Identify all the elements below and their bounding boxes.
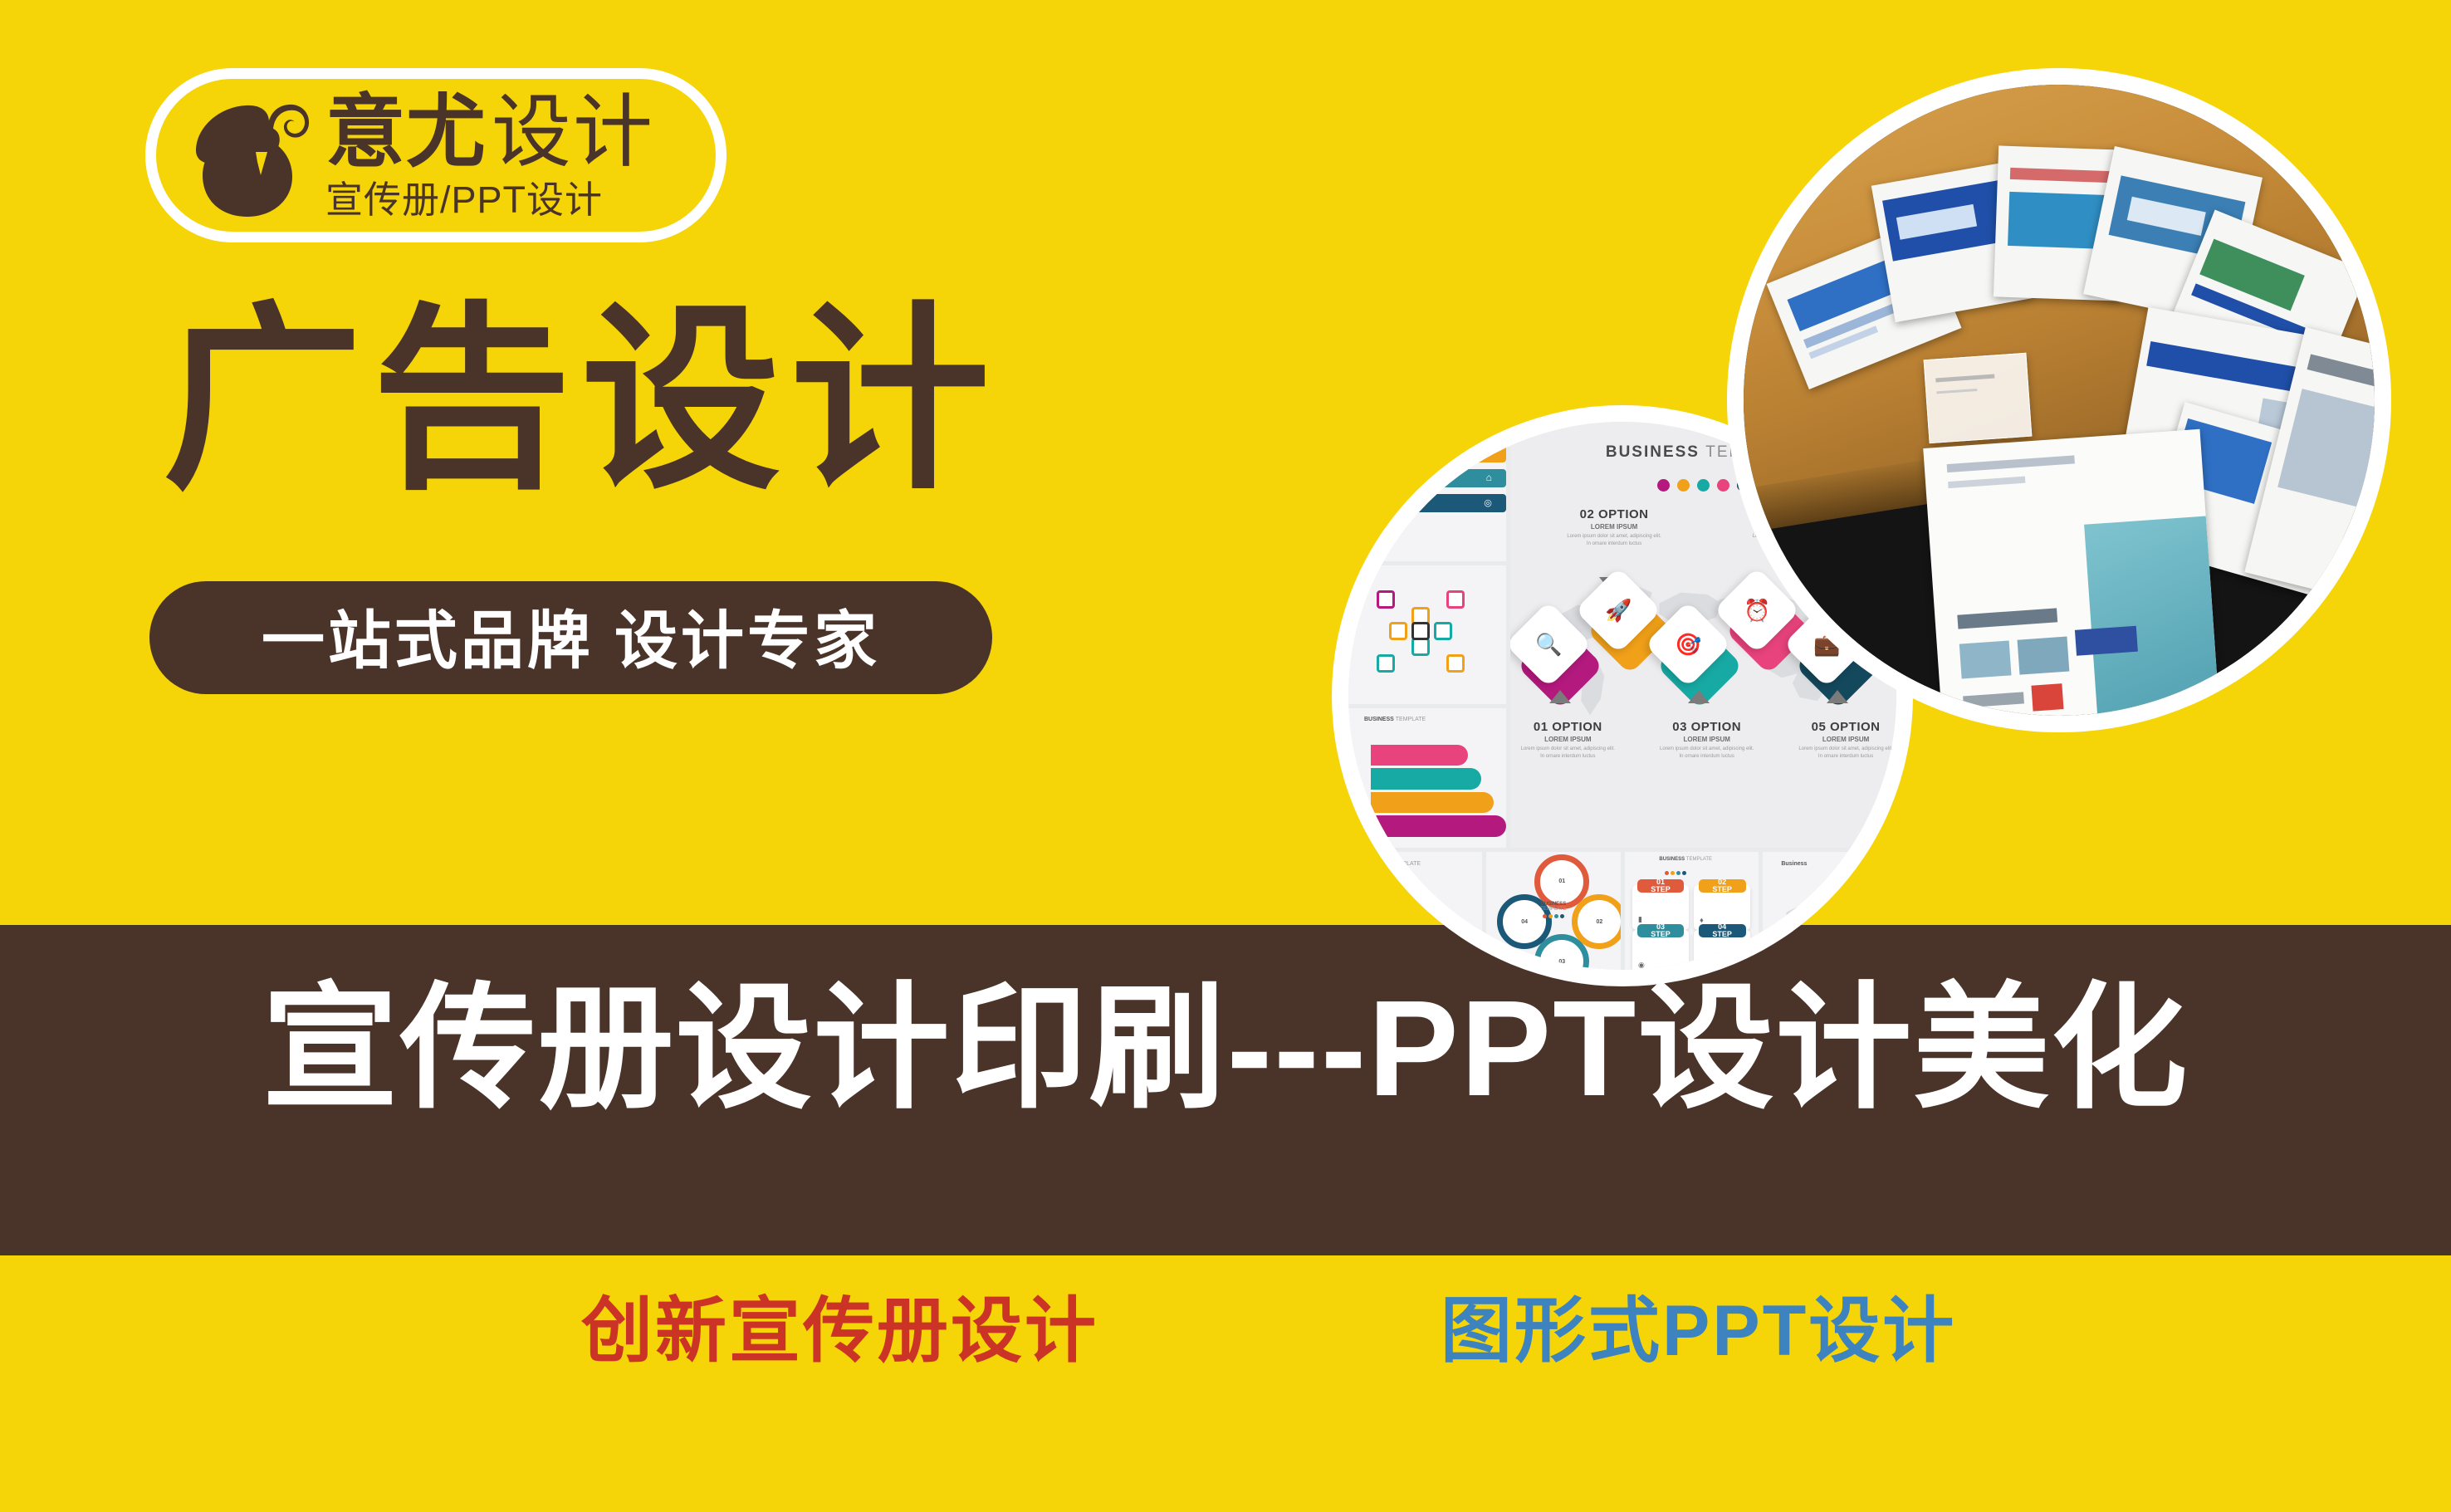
option-02-sub: LOREM IPSUM	[1564, 523, 1664, 531]
pointer-up-03	[1688, 690, 1710, 703]
b4-title: Business	[1781, 861, 1807, 867]
option-05-title: 05 OPTION	[1796, 720, 1896, 734]
option-label-01: 01 OPTION LOREM IPSUM Lorem ipsum dolor …	[1518, 720, 1617, 761]
bottom-label-ppt: 图形式PPT设计	[1441, 1295, 1956, 1367]
option-03-sub: LOREM IPSUM	[1657, 736, 1757, 743]
option-05-sub: LOREM IPSUM	[1796, 736, 1896, 743]
collage-bottom-row: BUSINESS TEMPLATE 04 OPTION	[1348, 852, 1896, 970]
option-02-body: Lorem ipsum dolor sit amet, adipiscing e…	[1564, 533, 1664, 548]
logo-badge: 意尤 设计 宣传册/PPT设计	[145, 68, 726, 242]
b1-title-light: TEMPLATE	[1391, 861, 1421, 867]
mini-slide-right-partial: Business 06	[1763, 852, 1896, 970]
printed-brochures-photo	[1727, 68, 2391, 732]
brochure-photo-inner	[1744, 85, 2375, 716]
option-02-title: 02 OPTION	[1564, 507, 1664, 521]
step-tile-04: 04 STEP	[1694, 930, 1750, 970]
subtitle-text: 一站式品牌 设计专家	[262, 590, 880, 681]
b1-title-bold: BUSINESS	[1359, 861, 1389, 867]
cone-title-light: TEMPLATE	[1396, 717, 1426, 722]
dot-4	[1717, 479, 1729, 492]
b3-title-light: TEMPLATE	[1686, 857, 1712, 862]
subtitle-pill: 一站式品牌 设计专家	[149, 581, 992, 694]
band-headline: 宣传册设计印刷---PPT设计美化	[0, 963, 2451, 1133]
bottom-label-brochure: 创新宣传册设计	[581, 1295, 1098, 1367]
page-headline: 广告设计	[163, 301, 1000, 500]
option-label-02: 02 OPTION LOREM IPSUM Lorem ipsum dolor …	[1564, 507, 1664, 548]
option-01-body: Lorem ipsum dolor sit amet, adipiscing e…	[1518, 746, 1617, 761]
option-02-icon: 🚀	[1605, 599, 1632, 621]
mini-slide-steps: BUSINESS TEMPLATE 01 STEP	[1625, 852, 1759, 970]
b1-option-label: 04 OPTION	[1388, 899, 1423, 907]
logo-text-block: 意尤 设计 宣传册/PPT设计	[325, 93, 654, 218]
option-03-body: Lorem ipsum dolor sit amet, adipiscing e…	[1657, 746, 1757, 761]
option-label-05: 05 OPTION LOREM IPSUM Lorem ipsum dolor …	[1796, 720, 1896, 761]
main-slide-title-bold: BUSINESS	[1606, 443, 1700, 461]
yiyou-seed-leaf-logo-icon	[174, 86, 314, 225]
mini-slide-hex-ring: 01 02 03 04 BUSI	[1486, 852, 1620, 970]
mini-slide-bands: ⌂ ◎	[1348, 422, 1506, 561]
mini-slide-template-option: BUSINESS TEMPLATE 04 OPTION	[1348, 852, 1482, 970]
mini-slide-plus-grid	[1348, 565, 1506, 705]
foreground-brochure	[1923, 428, 2220, 716]
cone-title-bold: BUSINESS	[1364, 717, 1394, 722]
step-tile-03: 03 STEP ◉	[1632, 930, 1689, 970]
logo-wordmark-bold: 意尤	[325, 93, 487, 173]
option-01-sub: LOREM IPSUM	[1518, 736, 1617, 743]
dot-2	[1677, 479, 1690, 492]
dot-3	[1697, 479, 1710, 492]
collage-left-column: ⌂ ◎	[1348, 422, 1506, 848]
b3-title-bold: BUSINESS	[1659, 857, 1685, 862]
banner-canvas: 意尤 设计 宣传册/PPT设计 广告设计 一站式品牌 设计专家 ⌂	[0, 0, 2451, 1512]
option-label-03: 03 OPTION LOREM IPSUM Lorem ipsum dolor …	[1657, 720, 1757, 761]
hex-center-light: TEMPLATE	[1540, 907, 1566, 912]
option-05-body: Lorem ipsum dolor sit amet, adipiscing e…	[1796, 746, 1896, 761]
option-01-icon: 🔍	[1535, 634, 1562, 655]
acrylic-card-holder	[1924, 353, 2032, 443]
brochure-photo-scene	[1744, 85, 2375, 716]
logo-tagline: 宣传册/PPT设计	[325, 181, 654, 218]
logo-wordmark: 意尤 设计	[325, 93, 654, 173]
mini-slide-cone: BUSINESS TEMPLATE	[1348, 708, 1506, 848]
pointer-up-01	[1549, 690, 1571, 703]
option-03-icon: 🎯	[1675, 634, 1701, 655]
option-03-title: 03 OPTION	[1657, 720, 1757, 734]
logo-wordmark-light: 设计	[492, 93, 654, 173]
option-01-title: 01 OPTION	[1518, 720, 1617, 734]
dot-1	[1657, 479, 1670, 492]
